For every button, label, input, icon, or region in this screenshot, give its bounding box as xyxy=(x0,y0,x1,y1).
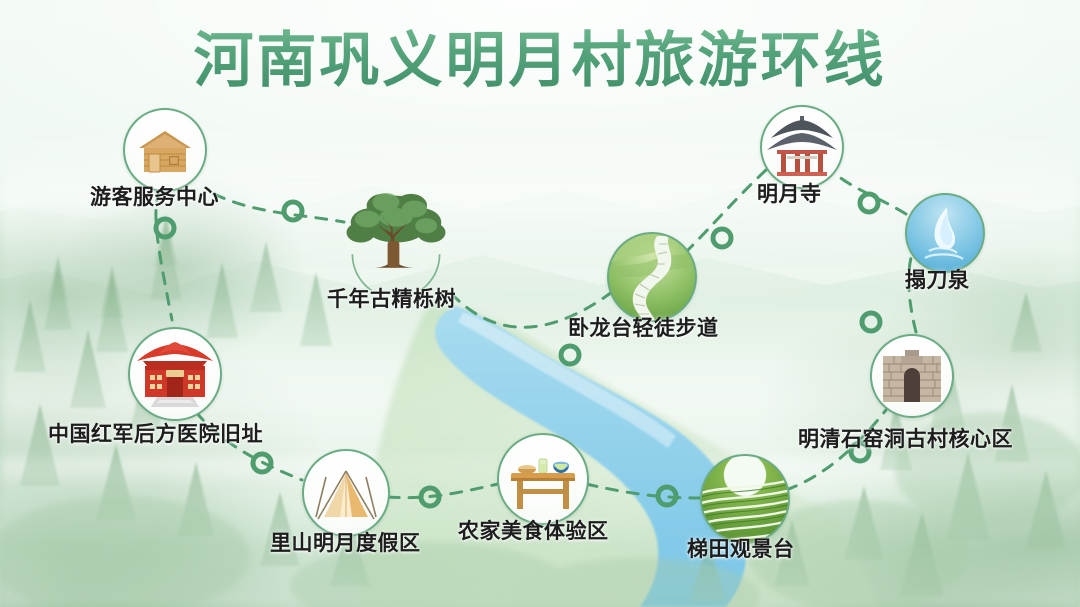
route-segment-food-to-terrace xyxy=(586,484,700,498)
map-node-label: 里山明月度假区 xyxy=(270,527,421,557)
route-segment-resort-to-food xyxy=(388,484,498,498)
ancient-tree-icon[interactable] xyxy=(344,186,448,290)
tourism-route-map: 河南巩义明月村旅游环线 游客服务中心 xyxy=(0,0,1080,607)
route-segment-temple-to-trail xyxy=(688,170,766,250)
map-node-label: 明月寺 xyxy=(757,178,822,208)
page-title: 河南巩义明月村旅游环线 xyxy=(0,12,1080,99)
stone-cave-dwelling-icon[interactable] xyxy=(870,334,954,418)
map-node-label: 中国红军后方医院旧址 xyxy=(48,418,263,448)
terraced-field-icon[interactable] xyxy=(700,454,790,544)
route-segment-visitor-to-oak xyxy=(214,194,344,222)
hiking-path-icon[interactable] xyxy=(607,232,697,322)
map-node-label: 明清石窑洞古村核心区 xyxy=(798,423,1013,453)
red-temple-icon[interactable] xyxy=(128,327,222,421)
pagoda-icon[interactable] xyxy=(760,105,844,189)
wooden-cabin-icon[interactable] xyxy=(123,108,207,192)
map-node-label: 梯田观景台 xyxy=(687,533,795,563)
map-node-label: 农家美食体验区 xyxy=(458,515,609,545)
spring-water-icon[interactable] xyxy=(905,193,985,273)
map-node-label: 搨刀泉 xyxy=(905,264,970,294)
camping-tent-icon[interactable] xyxy=(302,449,390,537)
map-node-label: 卧龙台轻徒步道 xyxy=(568,312,719,342)
map-node-label: 游客服务中心 xyxy=(90,181,219,211)
food-table-icon[interactable] xyxy=(497,433,589,525)
map-node-label: 千年古精栎树 xyxy=(327,283,456,313)
